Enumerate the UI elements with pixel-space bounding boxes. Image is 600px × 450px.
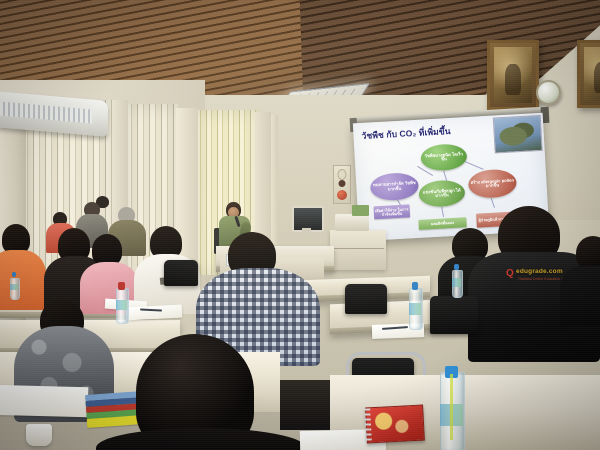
attendee-edge-body	[560, 266, 600, 326]
side-cabinet	[330, 230, 386, 270]
alarm-plaque-icon	[333, 165, 351, 204]
slide-box-left: เสียค่าใช้จ่าย ในการกำจัดเพิ่มขึ้น	[374, 204, 411, 219]
water-bottle-b	[409, 282, 421, 328]
printer	[335, 214, 369, 231]
slide-box-mid: ผลผลิตที่ลดลง	[418, 217, 466, 230]
paper-cup	[26, 424, 52, 446]
water-bottle-c	[440, 366, 463, 450]
chair-back-a	[345, 284, 387, 314]
cabinet-seam	[332, 248, 384, 249]
water-bottle-a	[116, 282, 127, 322]
slide-title: วัชพืช กับ CO₂ ที่เพิ่มขึ้น	[361, 122, 492, 143]
seminar-room-photo: วัชพืช กับ CO₂ ที่เพิ่มขึ้น วัชพืชบางชนิ…	[0, 0, 600, 450]
red-notebook	[365, 405, 425, 444]
polo-logo-mark: Q	[506, 268, 514, 279]
chair-back-b	[430, 296, 478, 334]
handout-paper-e	[0, 385, 88, 418]
polo-logo-text: edugrade.com	[516, 268, 563, 275]
thai-painting-left	[487, 40, 539, 110]
water-bottle-d	[452, 264, 461, 296]
slide-photo-icon	[493, 115, 543, 154]
slide-node-top: วัชพืชบางชนิด โตเร็วขึ้น	[420, 143, 467, 172]
attendee-edge-head	[576, 236, 600, 270]
slide-node-mid: แข่งขันกับพืชปลูก ได้มากขึ้น	[418, 179, 465, 208]
attendee-foreground-shoulders	[96, 428, 306, 450]
wall-clock-icon	[536, 80, 561, 105]
green-storage-box	[352, 205, 369, 216]
monitor-stand	[302, 228, 311, 235]
thai-painting-right	[577, 40, 600, 108]
notebook-spiral-binding	[364, 408, 372, 442]
ac-vent-grill	[0, 101, 92, 123]
chair-back-d	[164, 260, 198, 286]
slide-node-left: ทนทานสารกำจัด วัชพืชมากขึ้น	[370, 172, 419, 202]
slide-node-right: สร้าง allergenic pollen มากขึ้น	[468, 168, 517, 199]
water-bottle-e	[10, 272, 18, 298]
attendee-orange-body	[0, 250, 46, 310]
